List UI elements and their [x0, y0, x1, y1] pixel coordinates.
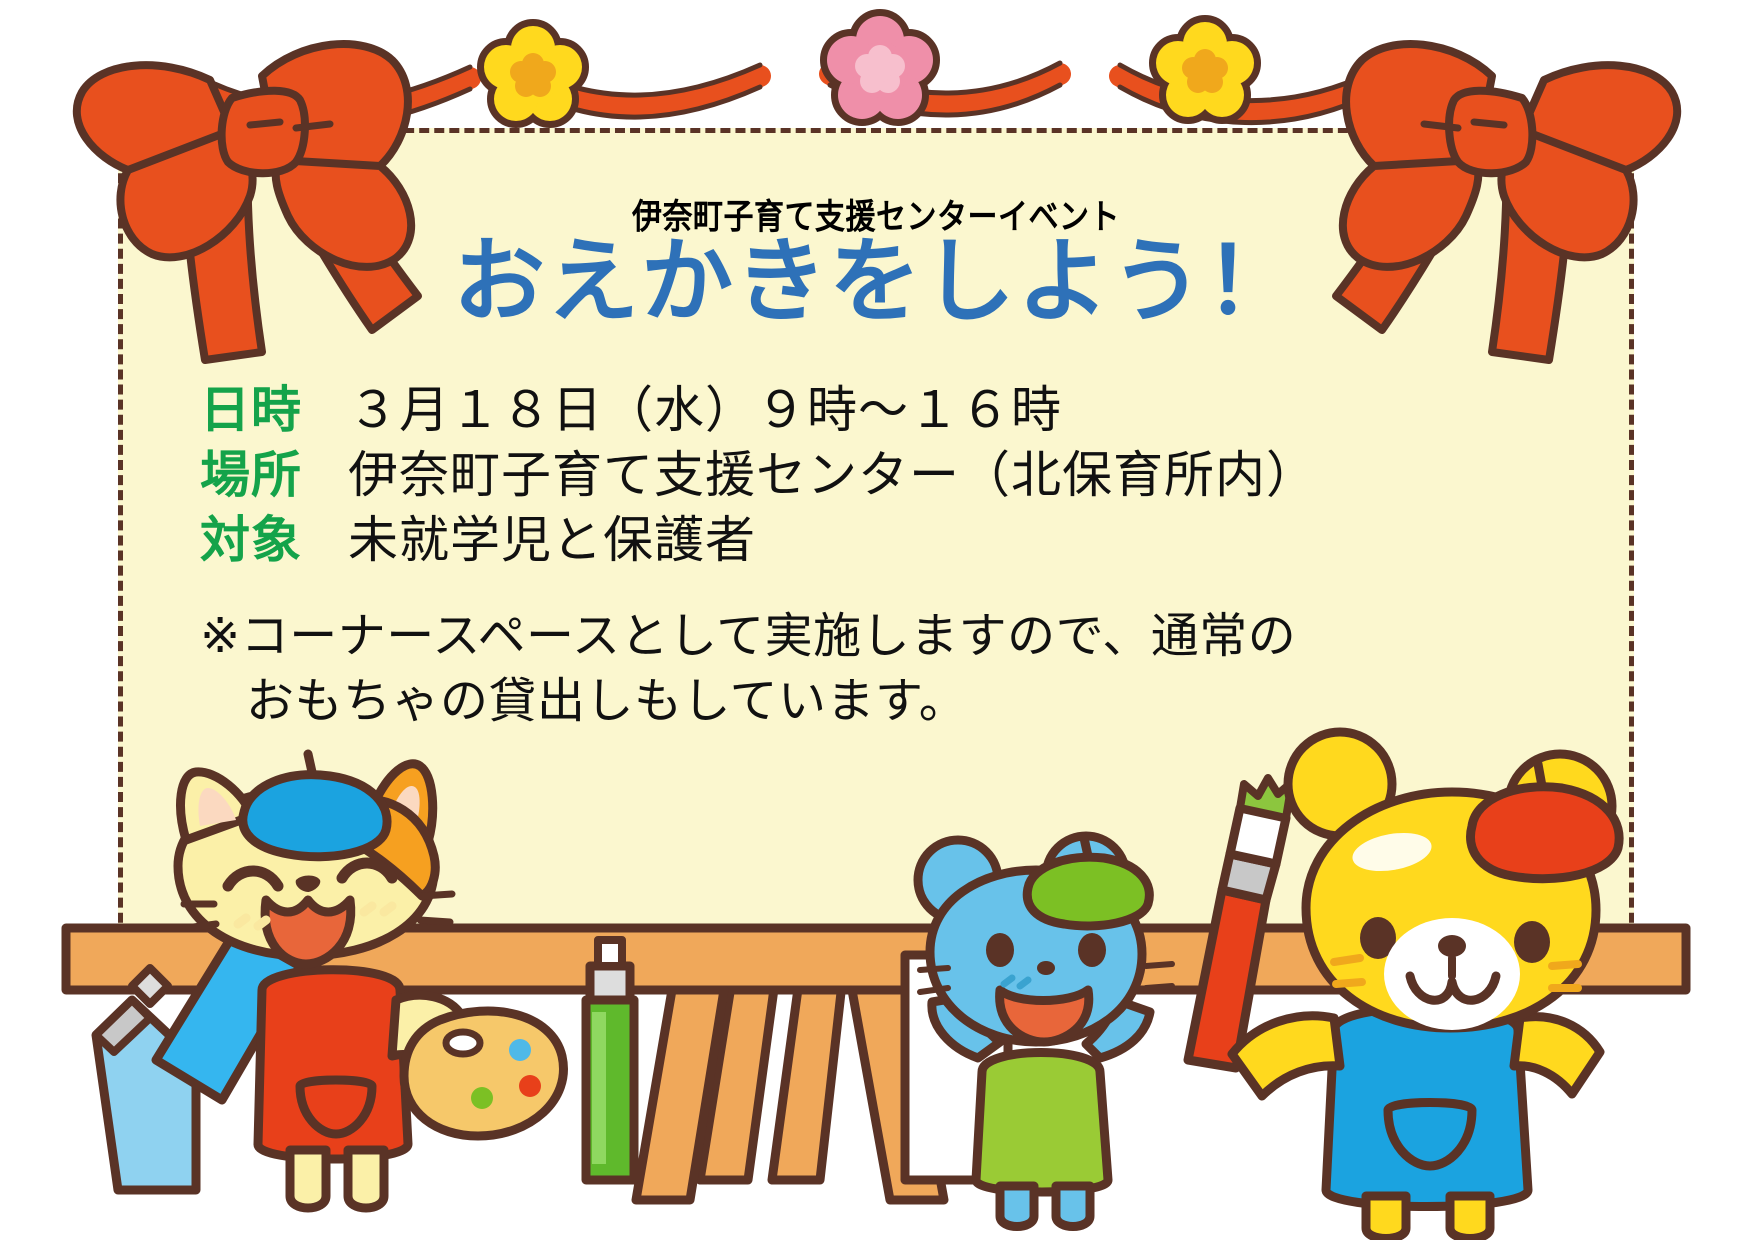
detail-value-audience: 未就学児と保護者	[348, 510, 756, 571]
note-line-1: ※コーナースペースとして実施しますので、通常の	[200, 604, 1570, 669]
paint-tube-blue-icon	[96, 968, 196, 1190]
paint-tube-green-icon	[586, 940, 634, 1180]
detail-value-datetime: ３月１８日（水）９時～１６時	[348, 380, 1062, 441]
flower-yellow-right-icon	[1153, 19, 1257, 120]
note-line-2: おもちゃの貸出しもしています。	[200, 669, 1570, 734]
poster-root: 伊奈町子育て支援センターイベント おえかきをしよう！ 日時 ３月１８日（水）９時…	[0, 0, 1754, 1240]
poster-note: ※コーナースペースとして実施しますので、通常の おもちゃの貸出しもしています。	[200, 604, 1570, 735]
easel-icon	[66, 928, 1686, 1200]
poster-content: 伊奈町子育て支援センターイベント おえかきをしよう！ 日時 ３月１８日（水）９時…	[118, 128, 1634, 968]
detail-label-audience: 対象	[200, 510, 348, 571]
detail-row-datetime: 日時 ３月１８日（水）９時～１６時	[200, 380, 1560, 441]
detail-row-venue: 場所 伊奈町子育て支援センター（北保育所内）	[200, 445, 1560, 506]
poster-title: おえかきをしよう！	[118, 231, 1634, 332]
detail-value-venue: 伊奈町子育て支援センター（北保育所内）	[348, 445, 1317, 506]
detail-label-venue: 場所	[200, 445, 348, 506]
detail-label-datetime: 日時	[200, 380, 348, 441]
flower-yellow-left-icon	[481, 23, 585, 124]
flower-pink-center-icon	[824, 13, 936, 122]
event-details: 日時 ３月１８日（水）９時～１６時 場所 伊奈町子育て支援センター（北保育所内）…	[200, 380, 1560, 575]
detail-row-audience: 対象 未就学児と保護者	[200, 510, 1560, 571]
